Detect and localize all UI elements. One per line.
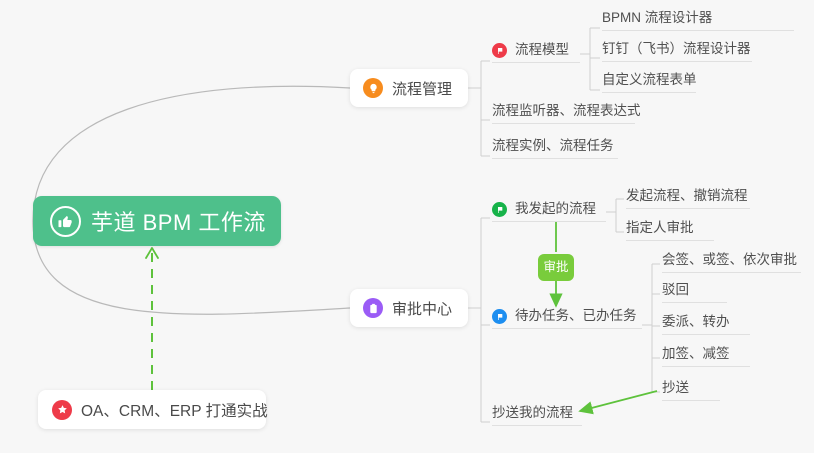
node-dingtalk-designer-label: 钉钉（飞书）流程设计器 [602,40,751,57]
node-todo-done-tasks-label: 待办任务、已办任务 [515,307,637,324]
node-delegate-transfer-label: 委派、转办 [662,313,730,330]
node-cc-to-me[interactable]: 抄送我的流程 [492,404,582,426]
approval-flow-label-text: 审批 [543,261,568,274]
lightbulb-icon [363,78,383,98]
node-instance-task-label: 流程实例、流程任务 [492,137,614,154]
node-bpmn-designer[interactable]: BPMN 流程设计器 [602,9,794,31]
node-listener-expression[interactable]: 流程监听器、流程表达式 [492,102,635,124]
node-listener-expression-label: 流程监听器、流程表达式 [492,102,641,119]
node-add-remove-sign[interactable]: 加签、减签 [662,345,750,367]
flag-icon [492,309,507,324]
node-delegate-transfer[interactable]: 委派、转办 [662,313,750,335]
star-icon [52,400,72,420]
node-reject-label: 驳回 [662,281,689,298]
node-oa-crm-erp[interactable]: OA、CRM、ERP 打通实战 [38,390,266,429]
node-process-management[interactable]: 流程管理 [350,69,468,107]
node-instance-task[interactable]: 流程实例、流程任务 [492,137,618,159]
flag-icon [492,43,507,58]
flag-icon [492,202,507,217]
node-reject[interactable]: 驳回 [662,281,727,303]
node-approval-center-label: 审批中心 [392,298,452,319]
root-node[interactable]: 芋道 BPM 工作流 [33,196,281,246]
node-approval-center[interactable]: 审批中心 [350,289,468,327]
node-start-cancel-process[interactable]: 发起流程、撤销流程 [626,187,750,209]
node-cc-label: 抄送 [662,379,689,396]
node-cc-to-me-label: 抄送我的流程 [492,404,573,421]
node-designated-approver[interactable]: 指定人审批 [626,219,714,241]
node-add-remove-sign-label: 加签、减签 [662,345,730,362]
node-process-management-label: 流程管理 [392,78,452,99]
node-process-model-label: 流程模型 [515,41,569,58]
node-countersign-modes-label: 会签、或签、依次审批 [662,251,797,268]
node-dingtalk-designer[interactable]: 钉钉（飞书）流程设计器 [602,40,752,62]
node-designated-approver-label: 指定人审批 [626,219,694,236]
node-cc[interactable]: 抄送 [662,379,720,401]
node-todo-done-tasks[interactable]: 待办任务、已办任务 [492,307,642,329]
thumbs-up-icon [50,206,81,237]
approval-flow-label: 审批 [538,254,574,281]
node-custom-form-label: 自定义流程表单 [602,71,697,88]
node-process-model[interactable]: 流程模型 [492,41,580,63]
node-custom-form[interactable]: 自定义流程表单 [602,71,696,93]
node-oa-crm-erp-label: OA、CRM、ERP 打通实战 [81,399,268,421]
clipboard-icon [363,298,383,318]
node-my-initiated-processes[interactable]: 我发起的流程 [492,200,606,222]
root-label: 芋道 BPM 工作流 [91,205,266,237]
node-bpmn-designer-label: BPMN 流程设计器 [602,9,712,26]
mindmap-canvas: 芋道 BPM 工作流 流程管理 流程模型 BPMN 流程设计器 钉钉（飞书）流程… [0,0,814,453]
node-countersign-modes[interactable]: 会签、或签、依次审批 [662,251,801,273]
node-start-cancel-process-label: 发起流程、撤销流程 [626,187,748,204]
node-my-initiated-processes-label: 我发起的流程 [515,200,596,217]
